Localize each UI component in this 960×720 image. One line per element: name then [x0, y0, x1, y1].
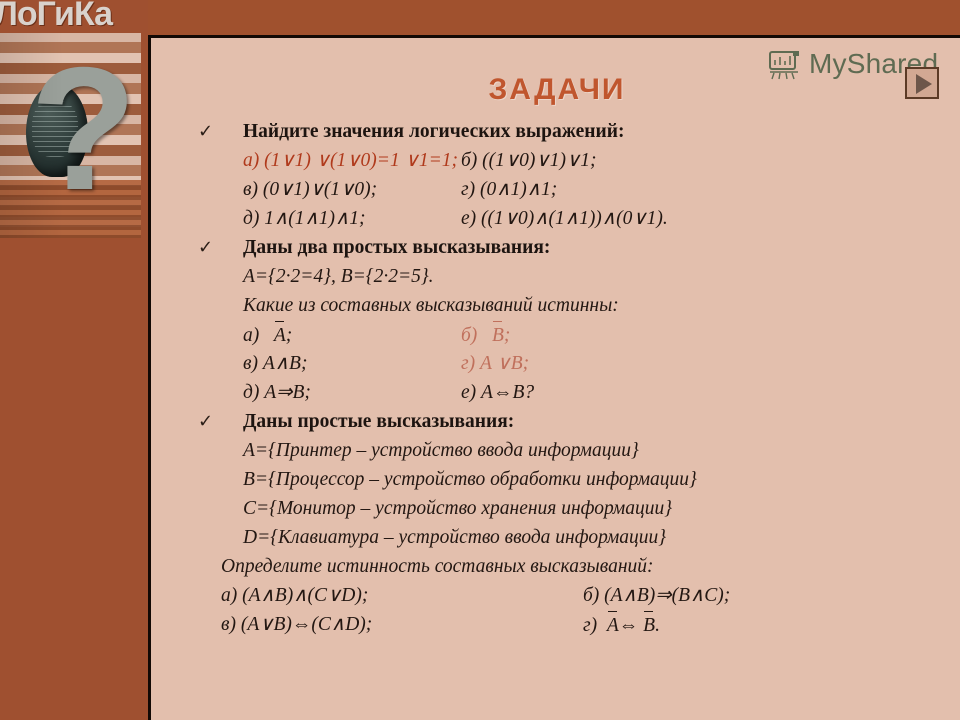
- task-2-item-b-suffix: ;: [504, 325, 511, 346]
- task-2-question: Какие из составных высказываний истинны:: [193, 291, 953, 320]
- slide-root: ЛоГиКа ? ЗАДАЧИ ✓ Найдите значения логич…: [0, 0, 960, 720]
- task-2-item-g-expr: A ∨B;: [480, 353, 529, 374]
- task-1-row: а) (1∨1) ∨(1∨0)=1 ∨1=1; б) ((1∨0)∨1)∨1;: [193, 146, 953, 175]
- band-filler: [0, 238, 148, 720]
- task-3: ✓ Даны простые высказывания: A={Принтер …: [193, 407, 953, 639]
- task-2-row: д) A⇒B; е) A⇔B?: [193, 378, 953, 407]
- content-panel: ЗАДАЧИ ✓ Найдите значения логических выр…: [148, 35, 960, 720]
- task-3-heading: ✓ Даны простые высказывания:: [193, 407, 953, 436]
- task-2-row: а) A; б) B;: [193, 320, 953, 349]
- task-3-heading-text: Даны простые высказывания:: [243, 411, 514, 432]
- task-1-item-d: д) 1∧(1∧1)∧1;: [243, 204, 366, 233]
- task-3-def-b: B={Процессор – устройство обработки инфо…: [193, 465, 953, 494]
- photo-shading: [0, 33, 141, 238]
- task-2-row: в) A∧B; г) A ∨B;: [193, 349, 953, 378]
- task-3-row: а) (A∧B)∧(C∨D); б) (A∧B)⇒(B∧C);: [193, 581, 953, 610]
- task-1-item-g: г) (0∧1)∧1;: [461, 175, 557, 204]
- task-2-item-a-prefix: а): [243, 325, 259, 346]
- task-2-item-g: г) A ∨B;: [461, 349, 529, 378]
- task-2-item-d-expr: A⇒B;: [264, 382, 311, 403]
- task-3-def-d: D={Клавиатура – устройство ввода информа…: [193, 523, 953, 552]
- task-1-row: в) (0∨1)∨(1∨0); г) (0∧1)∧1;: [193, 175, 953, 204]
- task-1-heading-text: Найдите значения логических выражений:: [243, 121, 624, 142]
- task-2-item-v: в) A∧B;: [243, 349, 307, 378]
- checkmark-icon: ✓: [198, 233, 213, 262]
- task-2-item-e-expr: A⇔B?: [481, 382, 534, 403]
- task-3-def-c: C={Монитор – устройство хранения информа…: [193, 494, 953, 523]
- task-2-item-a-suffix: ;: [286, 325, 293, 346]
- task-2-item-a: а) A;: [243, 320, 292, 350]
- task-2-heading-text: Даны два простых высказывания:: [243, 237, 550, 258]
- task-3-row: в) (A∨B)⇔(C∧D); г) A⇔ B.: [193, 610, 953, 639]
- task-1-item-e: е) ((1∨0)∧(1∧1))∧(0∨1).: [461, 204, 668, 233]
- task-2-item-v-expr: A∧B;: [263, 353, 308, 374]
- task-3-item-b: б) (A∧B)⇒(B∧C);: [583, 581, 730, 610]
- task-2-item-b: б) B;: [461, 320, 510, 350]
- task-2-item-a-negation: A: [274, 320, 286, 350]
- left-decoration-band: ЛоГиКа ?: [0, 0, 148, 720]
- task-3-item-a: а) (A∧B)∧(C∨D);: [221, 581, 368, 610]
- task-3-item-v: в) (A∨B)⇔(C∧D);: [221, 610, 372, 639]
- task-2-given: A={2·2=4}, B={2·2=5}.: [193, 262, 953, 291]
- task-3-question: Определите истинность составных высказыв…: [193, 552, 953, 581]
- task-2-item-b-prefix: б): [461, 325, 477, 346]
- task-2-item-v-prefix: в): [243, 353, 258, 374]
- task-3-def-a: A={Принтер – устройство ввода информации…: [193, 436, 953, 465]
- task-2-item-d-prefix: д): [243, 382, 259, 403]
- task-2: ✓ Даны два простых высказывания: A={2·2=…: [193, 233, 953, 407]
- presentation-board-icon: [767, 50, 801, 80]
- play-triangle-icon: [916, 74, 932, 94]
- task-1-item-b: б) ((1∨0)∨1)∨1;: [461, 146, 596, 175]
- task-1-item-a: а) (1∨1) ∨(1∨0)=1 ∨1=1;: [243, 146, 458, 175]
- logic-photo: ?: [0, 33, 141, 238]
- checkmark-icon: ✓: [198, 117, 213, 146]
- task-1-row: д) 1∧(1∧1)∧1; е) ((1∨0)∧(1∧1))∧(0∨1).: [193, 204, 953, 233]
- task-2-item-b-negation: B: [492, 320, 504, 350]
- task-2-item-d: д) A⇒B;: [243, 378, 311, 407]
- task-2-item-e: е) A⇔B?: [461, 378, 534, 407]
- task-1-item-v: в) (0∨1)∨(1∨0);: [243, 175, 377, 204]
- logo-word: ЛоГиКа: [0, 0, 148, 32]
- task-2-heading: ✓ Даны два простых высказывания:: [193, 233, 953, 262]
- task-2-item-g-prefix: г): [461, 353, 475, 374]
- body-text: ✓ Найдите значения логических выражений:…: [193, 117, 953, 639]
- play-button[interactable]: [905, 67, 939, 99]
- checkmark-icon: ✓: [198, 407, 213, 436]
- task-1-heading: ✓ Найдите значения логических выражений:: [193, 117, 953, 146]
- task-3-item-g: г) A⇔ B.: [583, 610, 660, 640]
- task-2-item-e-prefix: е): [461, 382, 476, 403]
- task-1: ✓ Найдите значения логических выражений:…: [193, 117, 953, 233]
